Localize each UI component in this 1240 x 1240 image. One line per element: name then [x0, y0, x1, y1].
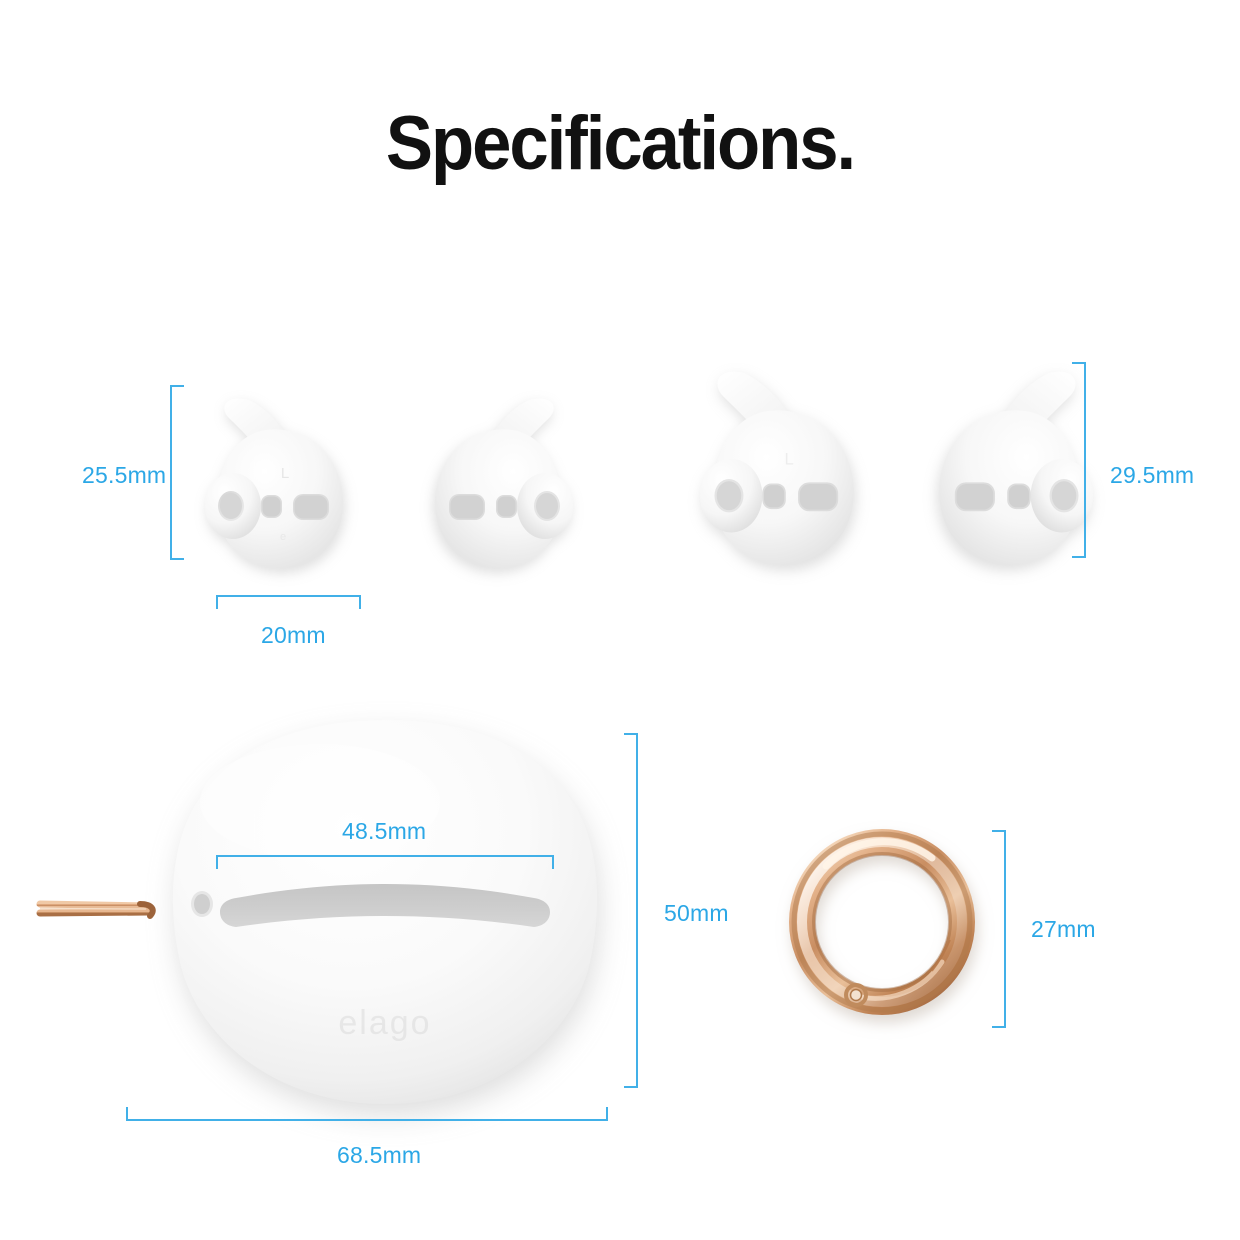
earbud-cover-small-left: L e — [205, 378, 380, 578]
elago-wordmark-glyphs: elago — [338, 1004, 431, 1042]
dimension-label-29-5mm: 29.5mm — [1110, 462, 1194, 489]
dimension-bracket-height-29-5 — [1072, 362, 1086, 558]
dimension-bracket-inner-width-48-5 — [216, 855, 554, 869]
dimension-bracket-width-68-5 — [126, 1107, 608, 1121]
earbud-cover-large-left: L — [700, 352, 895, 577]
dimension-label-25-5mm: 25.5mm — [82, 462, 166, 489]
dimension-label-27mm: 27mm — [1031, 916, 1096, 943]
specifications-page: Specifications. 25.5mm — [0, 0, 1240, 1240]
svg-text:elago: elago — [338, 1004, 431, 1042]
dimension-label-20mm: 20mm — [261, 622, 326, 649]
dimension-bracket-diameter-27 — [992, 830, 1006, 1028]
dimension-bracket-height-50 — [624, 733, 638, 1088]
dimension-label-50mm: 50mm — [664, 900, 729, 927]
svg-text:L: L — [784, 450, 793, 469]
airpods-case-cover: elago — [140, 712, 630, 1122]
dimension-bracket-width-20 — [216, 595, 361, 609]
dimension-label-68-5mm: 68.5mm — [337, 1142, 421, 1169]
earbud-cover-large-right — [898, 352, 1093, 577]
svg-text:L: L — [281, 465, 289, 482]
svg-text:e: e — [280, 531, 286, 543]
dimension-bracket-height-25-5 — [170, 385, 184, 560]
carabiner-keyring — [782, 822, 982, 1022]
page-title: Specifications. — [43, 100, 1196, 187]
dimension-label-48-5mm: 48.5mm — [342, 818, 426, 845]
earbud-cover-small-right — [398, 378, 573, 578]
